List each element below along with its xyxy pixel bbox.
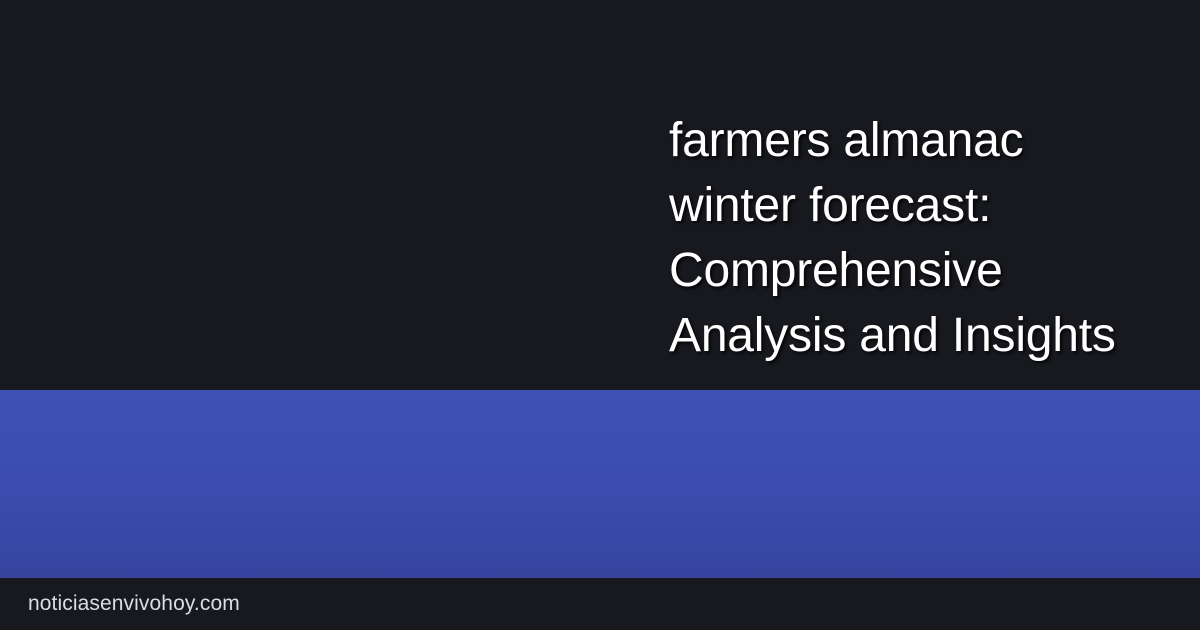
accent-band <box>0 390 1200 578</box>
site-domain-watermark: noticiasenvivohoy.com <box>28 590 240 618</box>
page-title: farmers almanac winter forecast: Compreh… <box>669 108 1139 368</box>
social-share-card: farmers almanac winter forecast: Compreh… <box>0 0 1200 630</box>
